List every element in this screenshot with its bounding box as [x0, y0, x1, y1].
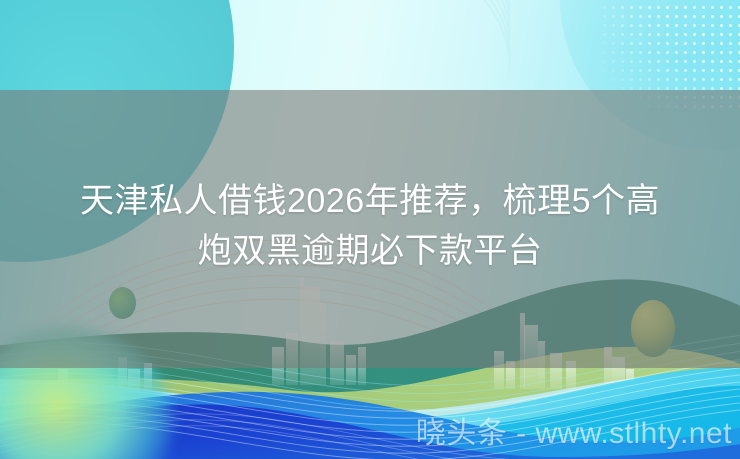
- cover-image-canvas: 天津私人借钱2026年推荐，梳理5个高 炮双黑逾期必下款平台 晓头条 - www…: [0, 0, 740, 459]
- watermark-text: 晓头条 - www.stlhty.net: [416, 417, 732, 451]
- concentric-arcs-icon: [330, 0, 510, 72]
- cover-title: 天津私人借钱2026年推荐，梳理5个高 炮双黑逾期必下款平台: [0, 176, 740, 276]
